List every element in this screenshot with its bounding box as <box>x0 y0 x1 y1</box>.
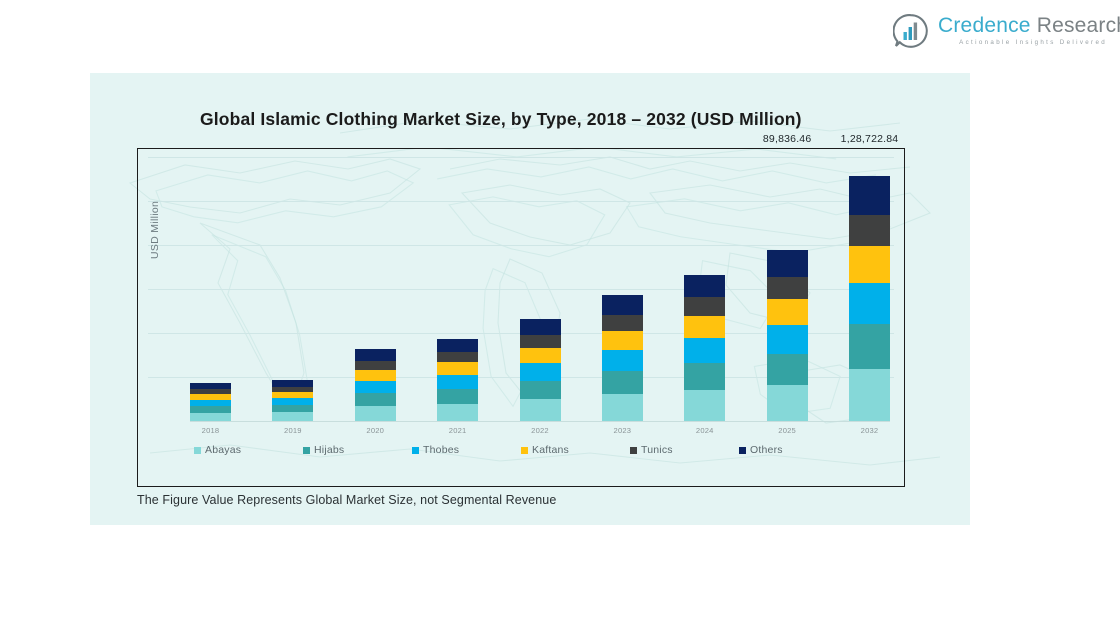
plot-area: USD Million <box>138 149 904 421</box>
segment-others <box>355 349 396 360</box>
bar-group: 89,836.46 1,28,722.84 <box>190 149 890 421</box>
segment-abayas <box>272 412 313 421</box>
legend-label-abayas: Abayas <box>205 444 241 456</box>
bar-slot-2025[interactable]: 89,836.46 <box>767 149 808 421</box>
segment-thobes <box>849 283 890 324</box>
segment-hijabs <box>684 363 725 390</box>
stacked-bar[interactable] <box>437 339 478 421</box>
legend-label-hijabs: Hijabs <box>314 444 344 456</box>
bar-slot-2020[interactable] <box>355 149 396 421</box>
segment-others <box>849 176 890 214</box>
brand-name-secondary: Research <box>1037 14 1120 37</box>
x-tick-2022: 2022 <box>520 426 561 435</box>
segment-hijabs <box>849 324 890 369</box>
stacked-bar[interactable] <box>849 176 890 421</box>
y-axis-label: USD Million <box>149 201 161 259</box>
brand-name-primary: Credence <box>938 14 1031 37</box>
segment-thobes <box>437 375 478 389</box>
segment-thobes <box>272 398 313 405</box>
segment-abayas <box>684 390 725 421</box>
legend-item-others[interactable]: Others <box>739 444 848 456</box>
segment-kaftans <box>355 370 396 381</box>
segment-tunics <box>437 352 478 363</box>
x-tick-2019: 2019 <box>272 426 313 435</box>
stacked-bar[interactable] <box>602 295 643 421</box>
legend-swatch-tunics <box>630 447 637 454</box>
segment-kaftans <box>849 246 890 283</box>
x-axis-tick-labels: 2018 2019 2020 2021 2022 2023 2024 2025 … <box>190 426 890 435</box>
segment-kaftans <box>767 299 808 325</box>
legend-swatch-kaftans <box>521 447 528 454</box>
logo-wordmark: Credence Research Actionable Insights De… <box>938 15 1120 46</box>
legend-label-kaftans: Kaftans <box>532 444 569 456</box>
segment-abayas <box>849 369 890 421</box>
segment-abayas <box>437 404 478 421</box>
chart-frame: USD Million <box>137 148 905 487</box>
legend-item-hijabs[interactable]: Hijabs <box>303 444 412 456</box>
segment-tunics <box>767 277 808 299</box>
segment-others <box>602 295 643 315</box>
chart-title: Global Islamic Clothing Market Size, by … <box>200 109 802 130</box>
segment-others <box>437 339 478 352</box>
bar-slot-2032[interactable]: 1,28,722.84 <box>849 149 890 421</box>
segment-hijabs <box>190 406 231 413</box>
segment-tunics <box>355 361 396 370</box>
x-tick-2021: 2021 <box>437 426 478 435</box>
x-tick-2020: 2020 <box>355 426 396 435</box>
segment-tunics <box>849 215 890 246</box>
stacked-bar[interactable] <box>684 275 725 421</box>
bar-slot-2022[interactable] <box>520 149 561 421</box>
segment-kaftans <box>684 316 725 338</box>
segment-kaftans <box>602 331 643 350</box>
x-tick-2018: 2018 <box>190 426 231 435</box>
x-tick-2024: 2024 <box>684 426 725 435</box>
legend-swatch-abayas <box>194 447 201 454</box>
segment-tunics <box>602 315 643 331</box>
segment-tunics <box>684 297 725 316</box>
segment-others <box>767 250 808 277</box>
brand-tagline: Actionable Insights Delivered <box>938 40 1120 46</box>
legend-swatch-others <box>739 447 746 454</box>
x-tick-2025: 2025 <box>767 426 808 435</box>
segment-thobes <box>355 381 396 393</box>
segment-abayas <box>767 385 808 421</box>
segment-hijabs <box>602 371 643 394</box>
bar-slot-2018[interactable] <box>190 149 231 421</box>
segment-kaftans <box>437 362 478 374</box>
segment-hijabs <box>272 405 313 412</box>
segment-hijabs <box>520 381 561 400</box>
segment-abayas <box>355 406 396 421</box>
legend-swatch-hijabs <box>303 447 310 454</box>
stacked-bar[interactable] <box>190 383 231 421</box>
segment-abayas <box>520 399 561 421</box>
segment-hijabs <box>437 389 478 404</box>
legend-swatch-thobes <box>412 447 419 454</box>
chart-legend: Abayas Hijabs Thobes Kaftans Tunics Othe… <box>138 444 904 456</box>
segment-abayas <box>602 394 643 421</box>
legend-item-tunics[interactable]: Tunics <box>630 444 739 456</box>
bar-value-label-2025: 89,836.46 <box>763 133 812 145</box>
segment-thobes <box>602 350 643 371</box>
segment-thobes <box>684 338 725 363</box>
segment-hijabs <box>767 354 808 385</box>
segment-hijabs <box>355 393 396 406</box>
stacked-bar[interactable] <box>355 349 396 421</box>
bar-slot-2024[interactable] <box>684 149 725 421</box>
segment-thobes <box>520 363 561 380</box>
x-tick-2023: 2023 <box>602 426 643 435</box>
legend-item-thobes[interactable]: Thobes <box>412 444 521 456</box>
legend-label-thobes: Thobes <box>423 444 459 456</box>
segment-tunics <box>520 335 561 348</box>
stacked-bar[interactable] <box>520 319 561 421</box>
chart-footnote: The Figure Value Represents Global Marke… <box>137 493 556 507</box>
legend-label-others: Others <box>750 444 783 456</box>
bar-slot-2019[interactable] <box>272 149 313 421</box>
legend-label-tunics: Tunics <box>641 444 673 456</box>
stacked-bar[interactable] <box>272 380 313 421</box>
logo-mark-icon <box>893 13 929 49</box>
segment-abayas <box>190 413 231 421</box>
segment-others <box>684 275 725 298</box>
legend-item-abayas[interactable]: Abayas <box>194 444 303 456</box>
bar-slot-2021[interactable] <box>437 149 478 421</box>
x-tick-2032: 2032 <box>849 426 890 435</box>
bar-slot-2023[interactable] <box>602 149 643 421</box>
segment-others <box>520 319 561 335</box>
brand-logo: Credence Research Actionable Insights De… <box>893 8 1103 54</box>
chart-panel: Global Islamic Clothing Market Size, by … <box>90 73 970 525</box>
x-axis-line <box>190 421 890 422</box>
legend-item-kaftans[interactable]: Kaftans <box>521 444 630 456</box>
segment-kaftans <box>520 348 561 364</box>
segment-thobes <box>767 325 808 354</box>
bar-value-label-2032: 1,28,722.84 <box>841 133 899 145</box>
stacked-bar[interactable] <box>767 250 808 421</box>
